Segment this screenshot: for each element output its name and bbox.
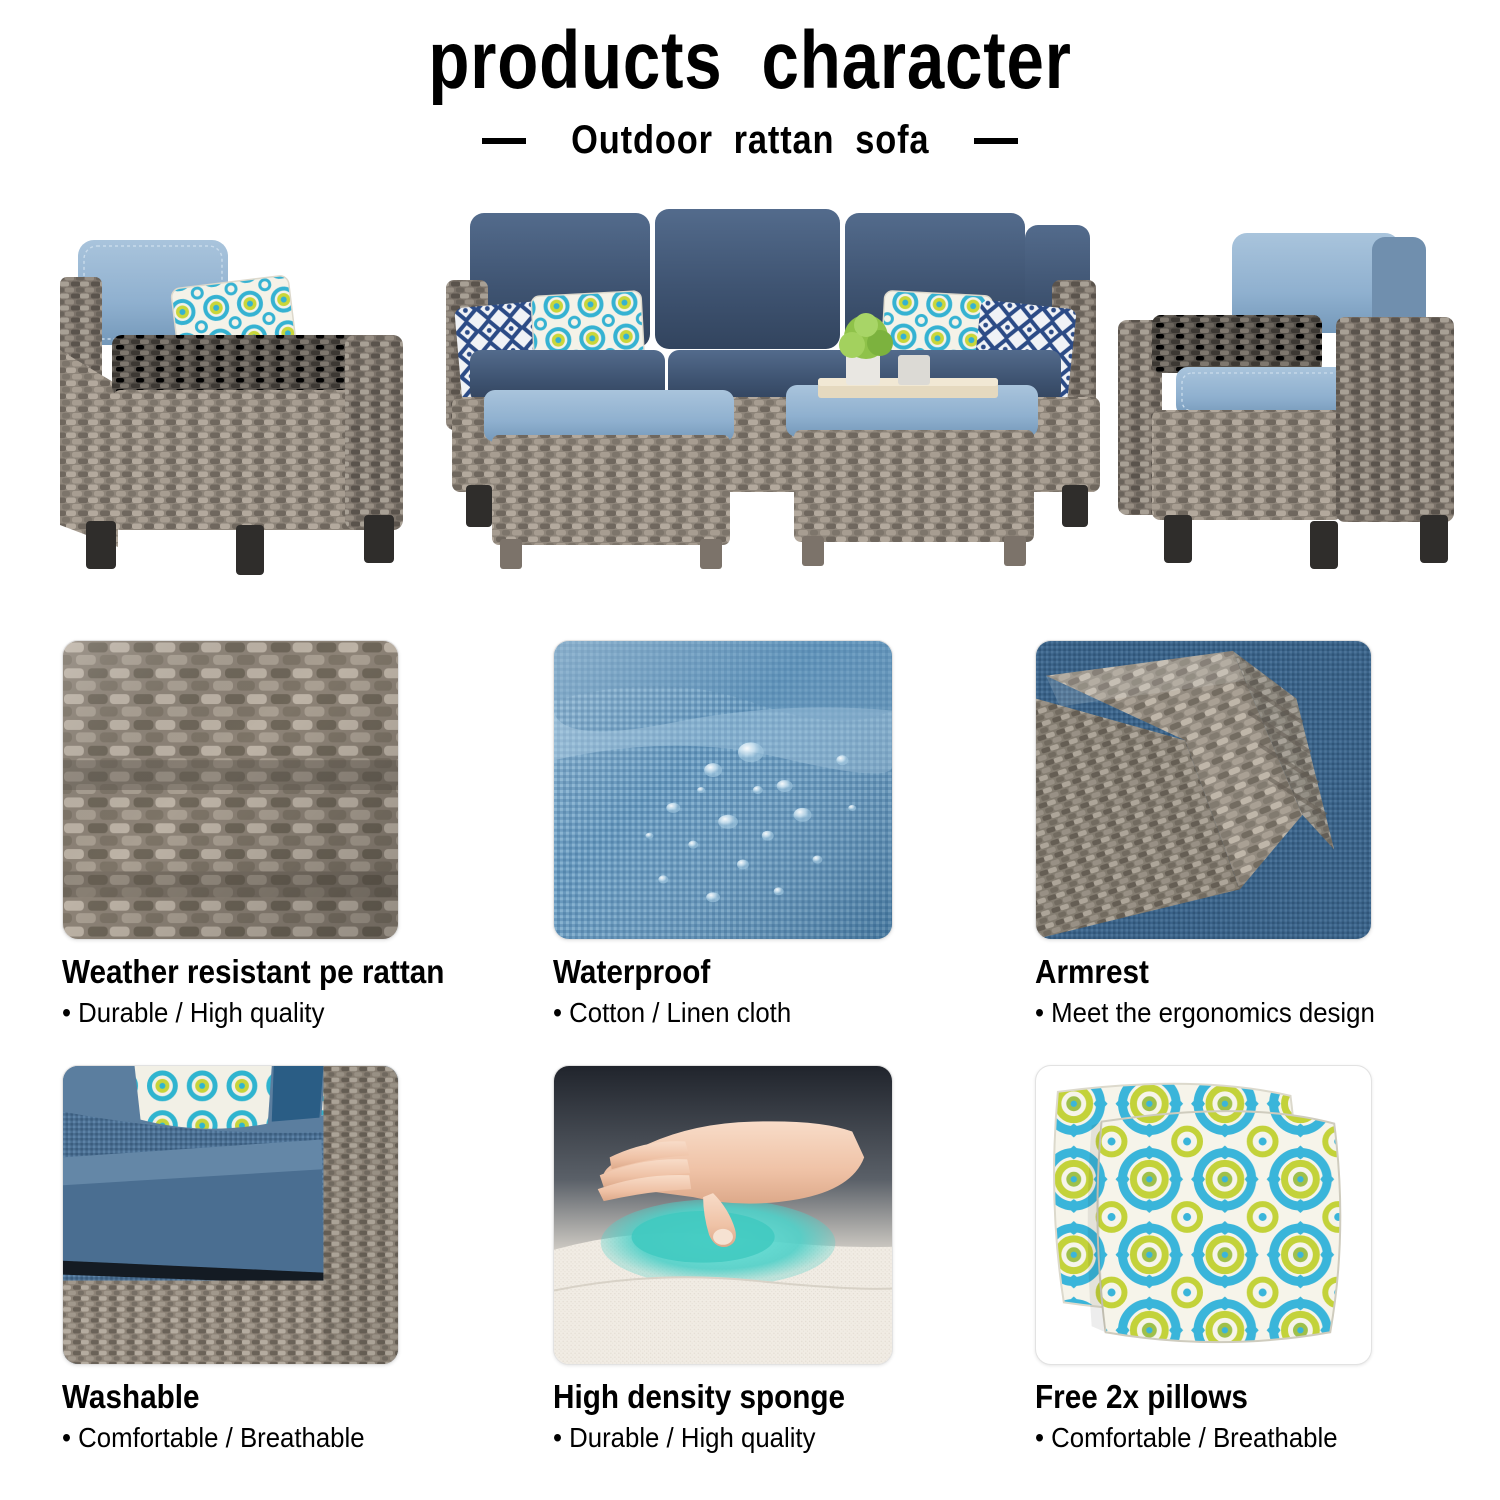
left-armchair [60, 240, 403, 575]
feature-bullet: • Durable / High quality [553, 1422, 976, 1454]
feature-bullet: • Comfortable / Breathable [1035, 1422, 1458, 1454]
feature-card-waterproof[interactable]: Waterproof • Cotton / Linen cloth [553, 640, 1013, 1029]
front-pillow [1097, 1111, 1340, 1342]
page-title: products character [135, 20, 1365, 102]
right-armchair [1118, 233, 1454, 569]
feature-card-weather-resistant-pe-rattan[interactable]: Weather resistant pe rattan • Durable / … [62, 640, 522, 1029]
ottoman-right [786, 385, 1038, 566]
em-dash-right-icon [974, 138, 1018, 144]
feature-card-armrest[interactable]: Armrest • Meet the ergonomics design [1035, 640, 1495, 1029]
blue-fabric-water-droplets-image [553, 640, 893, 940]
woven-armrest-corner-image [1035, 640, 1372, 940]
waterproof-illustration [554, 641, 892, 939]
feature-title: Free 2x pillows [1035, 1379, 1449, 1416]
header: products character Outdoor rattan sofa [0, 0, 1500, 163]
pillows-illustration [1036, 1066, 1371, 1364]
feature-card-high-density-sponge[interactable]: High density sponge • Durable / High qua… [553, 1065, 1013, 1454]
rattan-weave-illustration [63, 641, 398, 939]
subtitle-row: Outdoor rattan sofa [0, 118, 1500, 163]
blue-cushion-with-pillow-image [62, 1065, 399, 1365]
em-dash-left-icon [482, 138, 526, 144]
product-infographic-page: products character Outdoor rattan sofa [0, 0, 1500, 1500]
feature-bullet: • Meet the ergonomics design [1035, 997, 1458, 1029]
hero-product-image [0, 185, 1500, 605]
hand-pressing-memory-foam-image [553, 1065, 893, 1365]
feature-bullet: • Durable / High quality [62, 997, 485, 1029]
sponge-illustration [554, 1066, 892, 1364]
feature-row-2: Washable • Comfortable / Breathable [0, 1065, 1500, 1490]
armrest-illustration [1036, 641, 1371, 939]
ottoman-left [484, 390, 734, 569]
feature-title: High density sponge [553, 1379, 967, 1416]
feature-title: Weather resistant pe rattan [62, 954, 476, 991]
page-subtitle: Outdoor rattan sofa [571, 118, 929, 163]
rattan-weave-texture-image [62, 640, 399, 940]
feature-title: Washable [62, 1379, 476, 1416]
feature-bullet: • Cotton / Linen cloth [553, 997, 976, 1029]
two-patterned-throw-pillows-image [1035, 1065, 1372, 1365]
feature-title: Waterproof [553, 954, 967, 991]
feature-card-washable[interactable]: Washable • Comfortable / Breathable [62, 1065, 522, 1454]
feature-card-free-2x-pillows[interactable]: Free 2x pillows • Comfortable / Breathab… [1035, 1065, 1495, 1454]
hero-illustration [0, 185, 1500, 605]
feature-bullet: • Comfortable / Breathable [62, 1422, 485, 1454]
washable-illustration [63, 1066, 398, 1364]
feature-title: Armrest [1035, 954, 1449, 991]
feature-row-1: Weather resistant pe rattan • Durable / … [0, 640, 1500, 1065]
feature-grid: Weather resistant pe rattan • Durable / … [0, 640, 1500, 1490]
